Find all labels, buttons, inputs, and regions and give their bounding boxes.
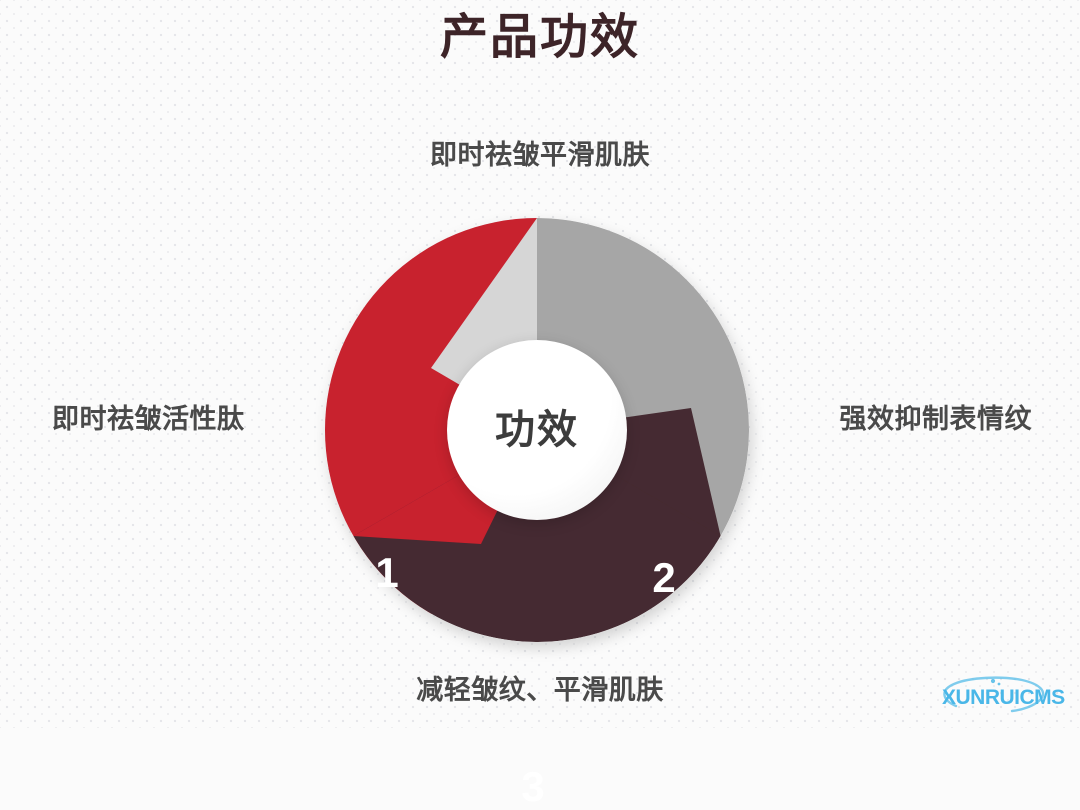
donut-center-hub: 功效 <box>447 340 627 520</box>
watermark-text: XUNRUICMS <box>942 686 1065 709</box>
donut-segment-2-number: 2 <box>634 557 694 599</box>
donut-center-label: 功效 <box>495 410 579 450</box>
chart-label-top: 即时祛皱平滑肌肤 <box>0 133 1080 172</box>
donut-segment-3-number: 3 <box>503 766 563 808</box>
chart-label-left: 即时祛皱活性肽 <box>52 397 245 436</box>
watermark-svg: XUNRUICMS <box>936 672 1072 720</box>
slide-canvas: 产品功效 即时祛皱平滑肌肤 即时祛皱活性肽 强效抑制表情纹 减轻皱纹、平滑肌肤 <box>0 0 1080 728</box>
watermark-logo: XUNRUICMS <box>936 672 1072 720</box>
chart-label-bottom: 减轻皱纹、平滑肌肤 <box>0 668 1080 707</box>
donut-segment-1-number: 1 <box>357 552 417 594</box>
donut-chart: 1 2 3 功效 <box>301 194 773 666</box>
page-title: 产品功效 <box>0 12 1080 65</box>
chart-label-right: 强效抑制表情纹 <box>840 397 1033 436</box>
